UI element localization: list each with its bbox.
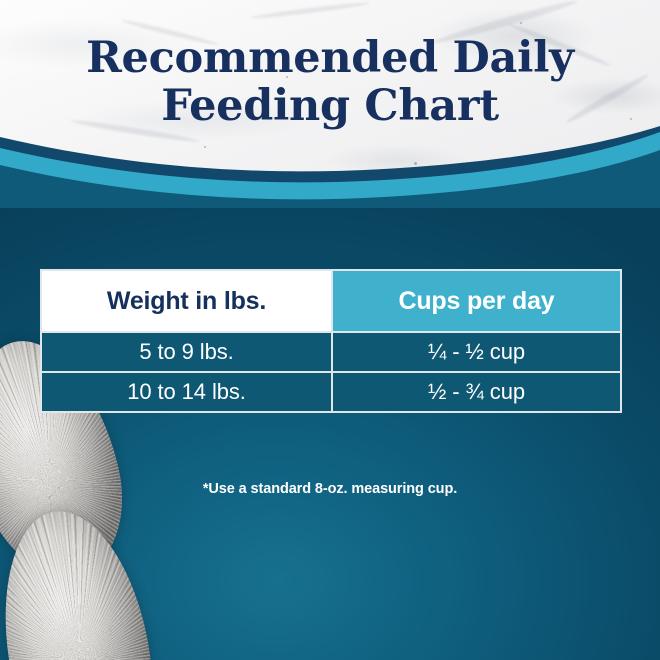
cell-cups: ½ - ¾ cup	[331, 371, 620, 411]
table-row: 5 to 9 lbs. ¼ - ½ cup	[42, 331, 620, 371]
table-row: 10 to 14 lbs. ½ - ¾ cup	[42, 371, 620, 411]
table-header-cups: Cups per day	[331, 271, 620, 331]
feeding-table: Weight in lbs. Cups per day 5 to 9 lbs. …	[40, 269, 622, 413]
cat-paw-icon	[0, 501, 165, 660]
table-header-row: Weight in lbs. Cups per day	[42, 271, 620, 331]
marble-speck	[204, 146, 206, 148]
cell-weight: 5 to 9 lbs.	[42, 331, 331, 371]
table-header-weight: Weight in lbs.	[42, 271, 331, 331]
cell-weight: 10 to 14 lbs.	[42, 371, 331, 411]
marble-speck	[520, 22, 522, 24]
footnote-text: *Use a standard 8-oz. measuring cup.	[0, 481, 660, 497]
marble-speck	[414, 162, 417, 165]
title-line-1: Recommended Daily	[86, 33, 574, 83]
page-title: Recommended Daily Feeding Chart	[0, 34, 660, 130]
marble-vein	[250, 1, 370, 21]
feeding-chart-poster: Recommended Daily Feeding Chart Weight i…	[0, 0, 660, 660]
cell-cups: ¼ - ½ cup	[331, 331, 620, 371]
title-line-2: Feeding Chart	[0, 82, 660, 130]
